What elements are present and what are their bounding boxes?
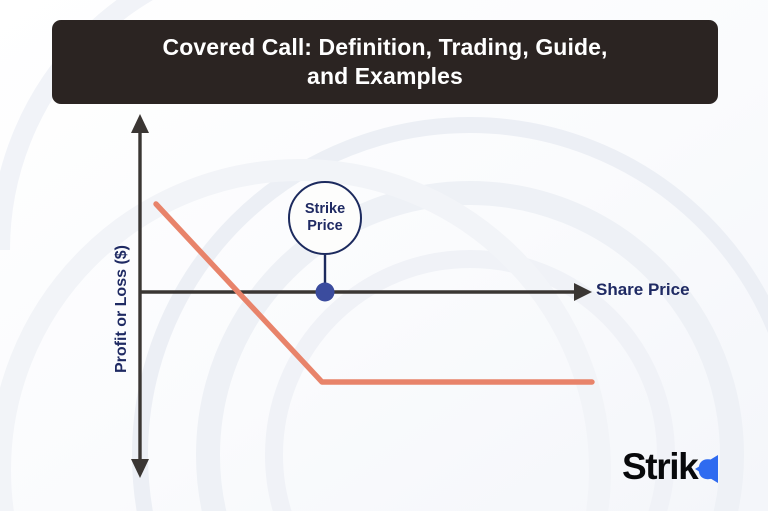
y-axis-label: Profit or Loss ($)	[113, 245, 131, 373]
strike-price-callout-line-2: Price	[307, 218, 342, 235]
strike-price-marker	[316, 255, 335, 302]
y-axis	[131, 114, 149, 478]
strike-price-callout: Strike Price	[288, 181, 362, 255]
strike-price-callout-line-1: Strike	[305, 201, 345, 218]
brand-logo-chevron-icon	[688, 454, 724, 484]
x-axis	[140, 283, 592, 301]
chart-canvas: Covered Call: Definition, Trading, Guide…	[0, 0, 768, 511]
x-axis-label: Share Price	[596, 280, 690, 300]
brand-logo: Strike	[622, 448, 716, 490]
brand-logo-text-dark: Stri	[622, 448, 678, 485]
